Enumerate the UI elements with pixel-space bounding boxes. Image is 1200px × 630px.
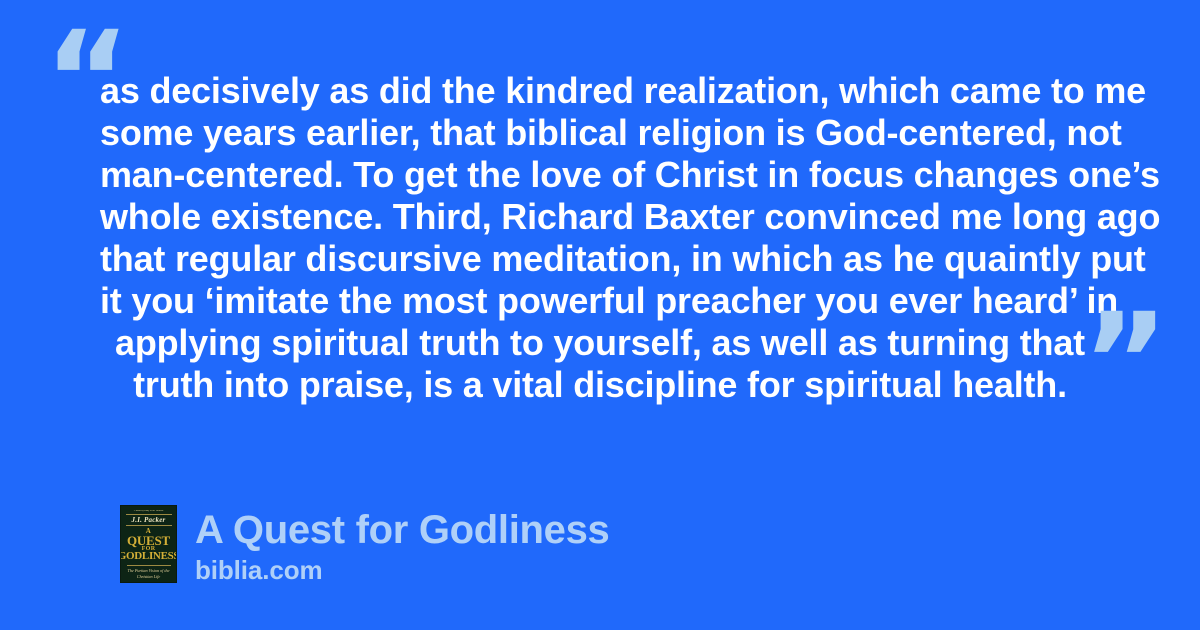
book-cover-subtitle: The Puritan Vision of the Christian Life xyxy=(124,568,174,578)
quote-line: that regular discursive meditation, in w… xyxy=(100,238,1100,280)
close-quote-icon: ” xyxy=(1082,296,1169,428)
quote-line: applying spiritual truth to yourself, as… xyxy=(100,322,1100,364)
book-cover-author: J.I. Packer xyxy=(132,516,166,524)
book-cover-title-godliness: GODLINESS xyxy=(120,551,177,562)
quote-line: it you ‘imitate the most powerful preach… xyxy=(100,280,1100,322)
divider xyxy=(126,525,172,526)
book-cover-thumbnail: “A masterly study of the Puritans” J.I. … xyxy=(120,505,177,583)
quote-line: whole existence. Third, Richard Baxter c… xyxy=(100,196,1100,238)
divider xyxy=(126,514,172,515)
quote-line: man-centered. To get the love of Christ … xyxy=(100,154,1100,196)
quote-line: as decisively as did the kindred realiza… xyxy=(100,70,1100,112)
quote-card: “ as decisively as did the kindred reali… xyxy=(0,0,1200,630)
quote-text-block: as decisively as did the kindred realiza… xyxy=(100,70,1100,406)
attribution-footer: “A masterly study of the Puritans” J.I. … xyxy=(120,505,610,585)
attribution-text-block: A Quest for Godliness biblia.com xyxy=(195,505,610,585)
quote-line: truth into praise, is a vital discipline… xyxy=(100,364,1100,406)
quote-line: some years earlier, that biblical religi… xyxy=(100,112,1100,154)
divider xyxy=(127,565,171,566)
site-name: biblia.com xyxy=(195,555,610,585)
book-title: A Quest for Godliness xyxy=(195,507,610,553)
book-cover-blurb: “A masterly study of the Puritans” xyxy=(124,510,174,513)
